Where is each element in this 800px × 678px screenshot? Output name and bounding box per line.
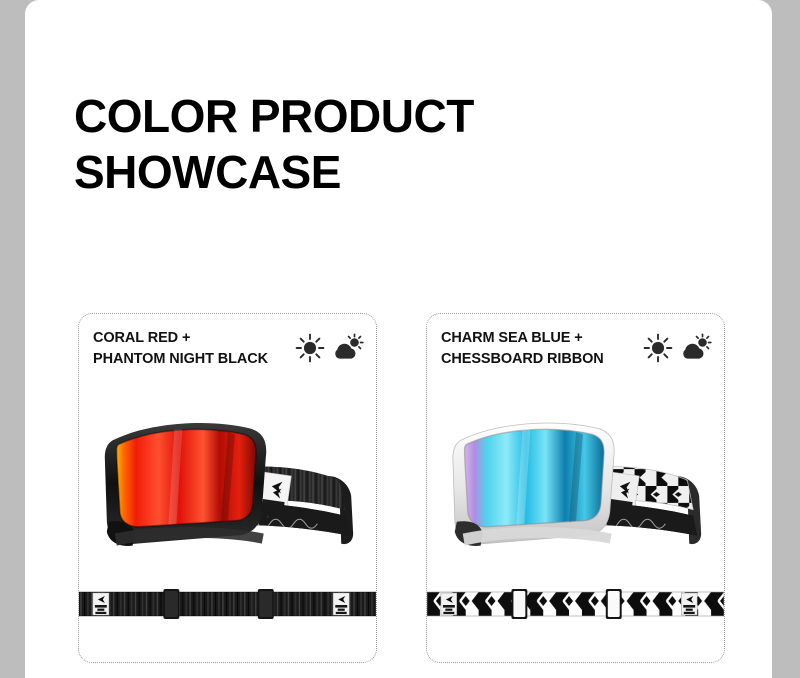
strap-logo-patch <box>681 593 697 615</box>
card-header: CHARM SEA BLUE + CHESSBOARD RIBBON <box>427 327 724 383</box>
product-card-charm-sea-blue[interactable]: CHARM SEA BLUE + CHESSBOARD RIBBON <box>426 313 725 663</box>
page-title: COLOR PRODUCT SHOWCASE <box>74 88 504 200</box>
cloud-sun-icon <box>678 333 712 363</box>
goggle-lens <box>117 429 256 526</box>
product-card-coral-red[interactable]: CORAL RED + PHANTOM NIGHT BLACK <box>78 313 377 663</box>
page-panel: COLOR PRODUCT SHOWCASE CORAL RED + PHANT… <box>25 0 772 678</box>
sun-icon <box>295 333 325 363</box>
card-header: CORAL RED + PHANTOM NIGHT BLACK <box>79 327 376 383</box>
cloud-sun-icon <box>330 333 364 363</box>
sun-icon <box>643 333 673 363</box>
product-image-coral-red <box>79 384 376 584</box>
strap-band <box>427 592 724 616</box>
product-image-charm-sea-blue <box>427 384 724 584</box>
flat-strap-charm-sea-blue <box>427 588 724 626</box>
strap-band <box>79 592 376 616</box>
card-title: CORAL RED + PHANTOM NIGHT BLACK <box>93 327 268 370</box>
flat-strap-coral-red <box>79 588 376 626</box>
strap-logo-patch <box>93 593 109 615</box>
strap-logo-patch <box>441 593 457 615</box>
goggle-lens <box>465 429 604 526</box>
strap-logo-patch <box>333 593 349 615</box>
weather-icons <box>295 327 364 363</box>
weather-icons <box>643 327 712 363</box>
card-title: CHARM SEA BLUE + CHESSBOARD RIBBON <box>441 327 604 370</box>
